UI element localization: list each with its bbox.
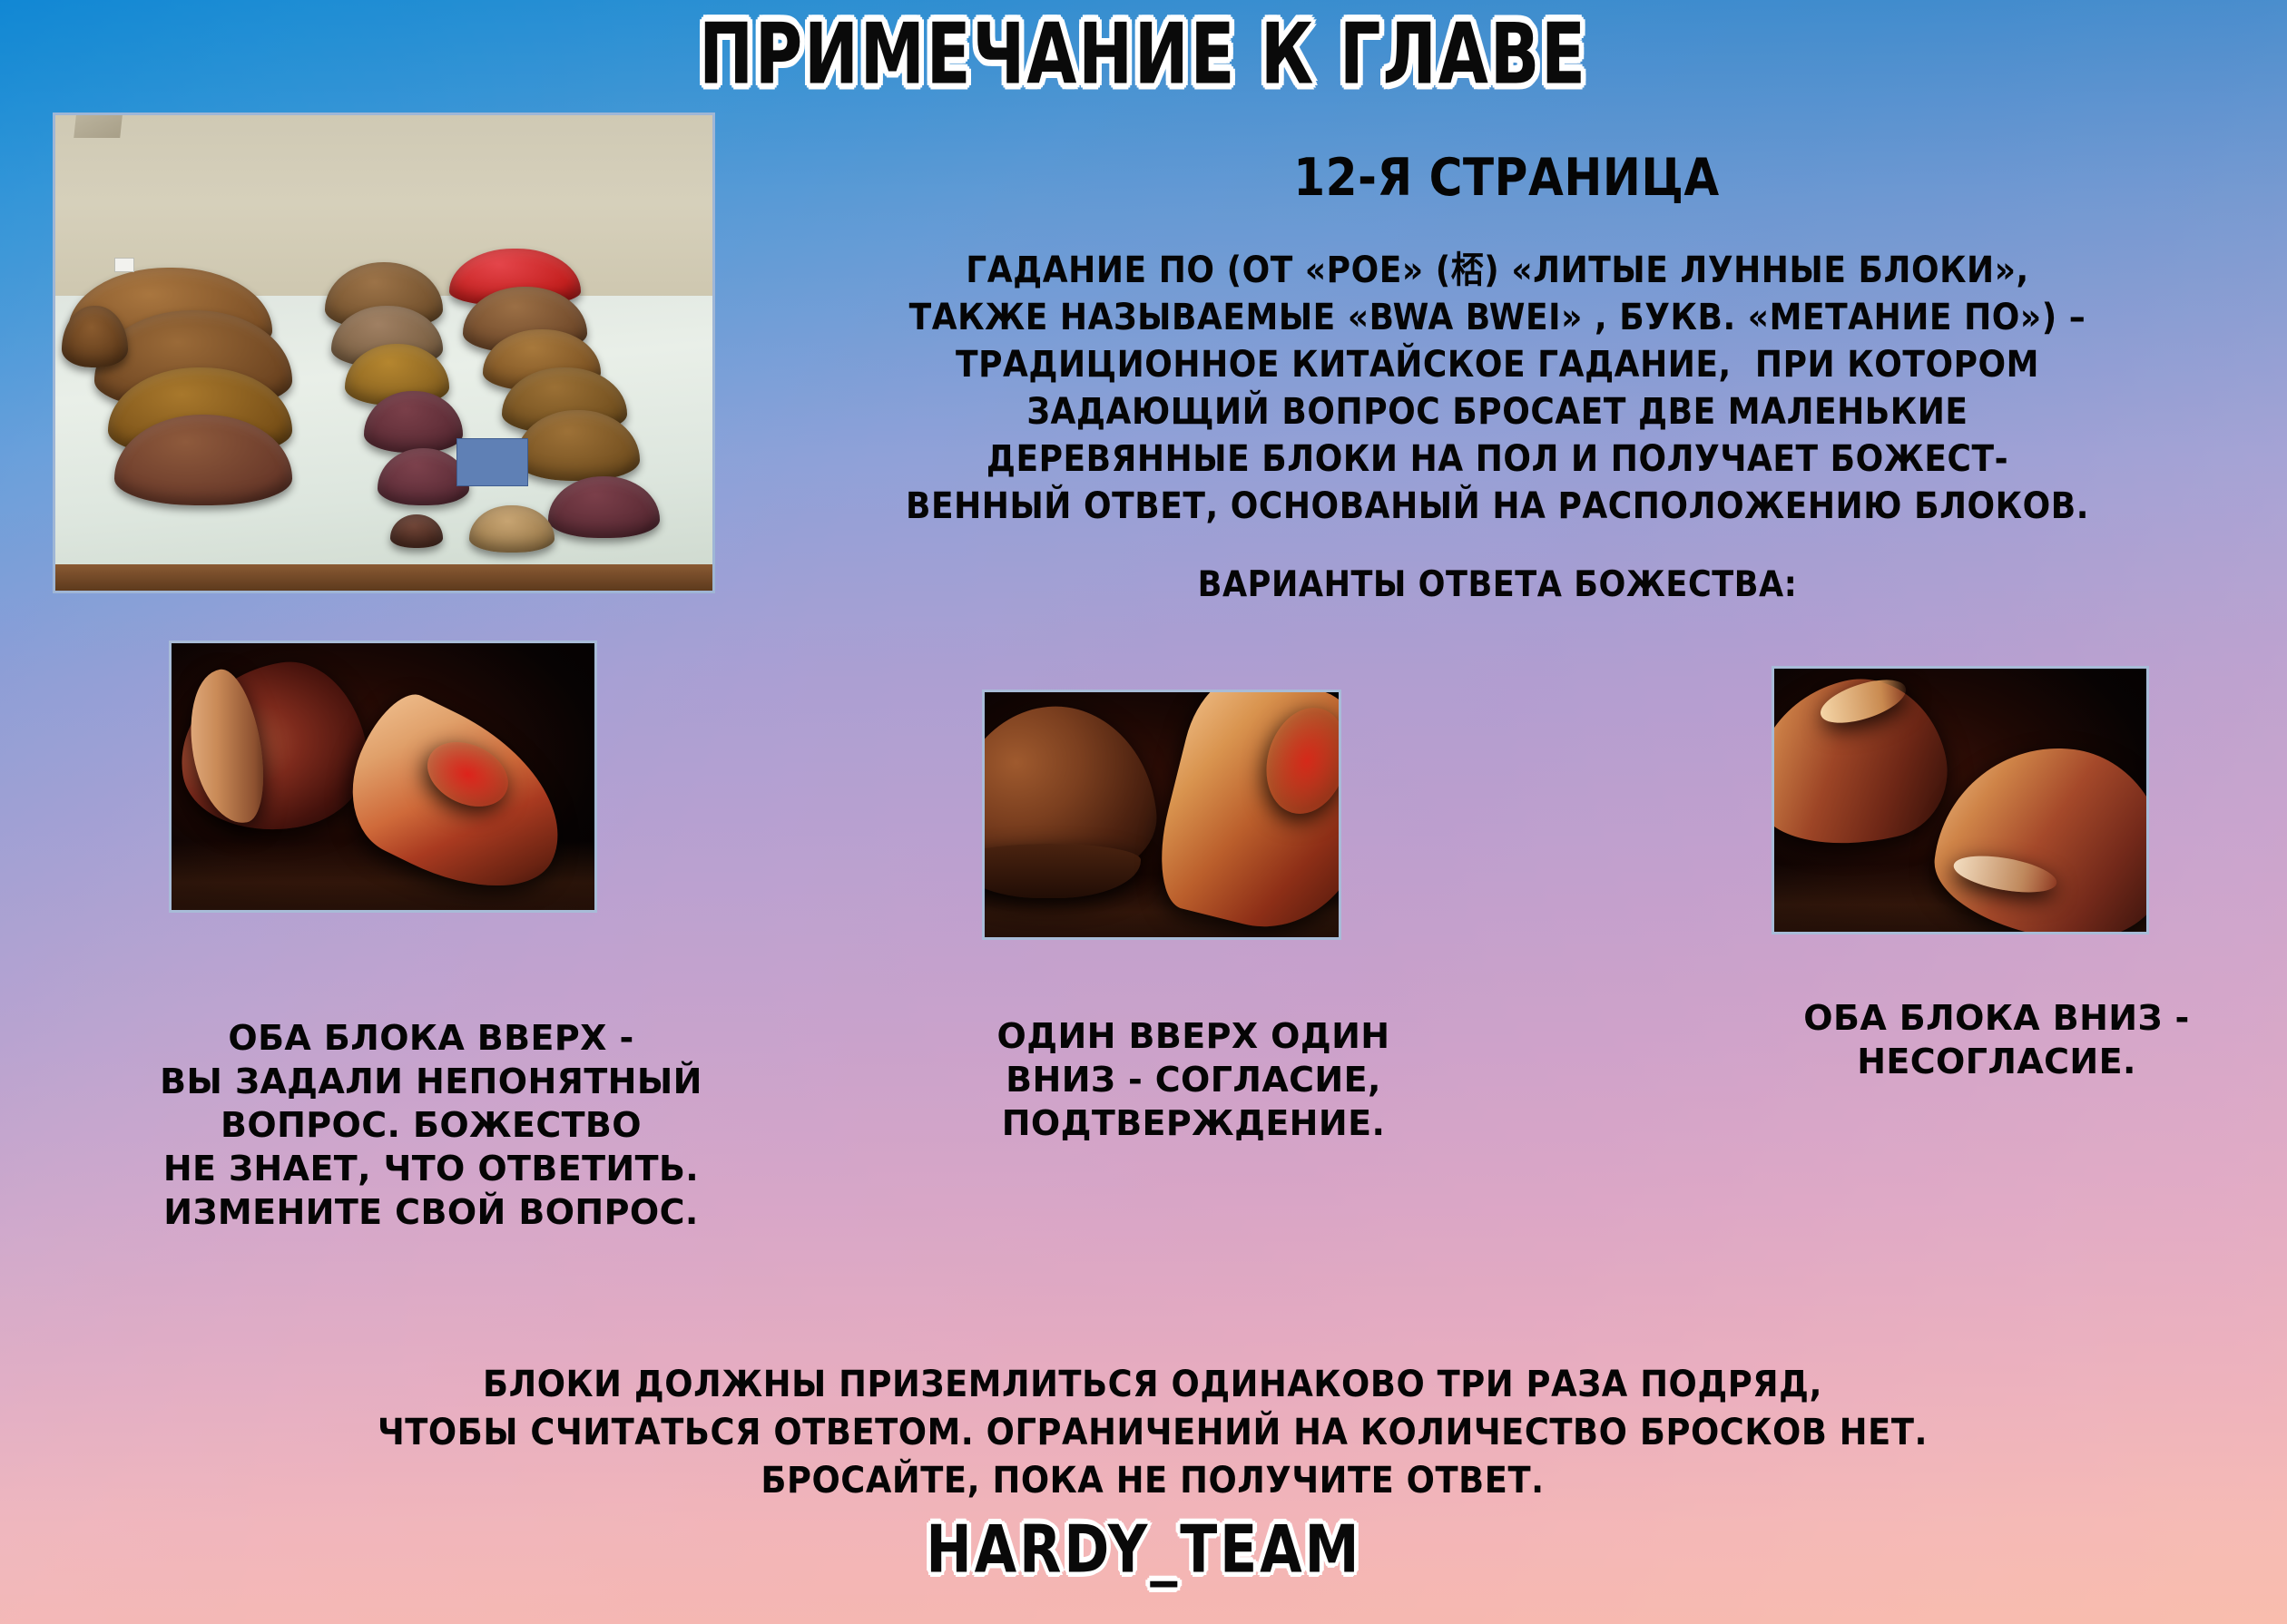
page-title: 12-Я СТРАНИЦА <box>836 152 2177 204</box>
answer-caption-both-up: ОБА БЛОКА ВВЕРХ - ВЫ ЗАДАЛИ НЕПОНЯТНЫЙ В… <box>23 1016 839 1234</box>
museum-display-photo <box>53 113 715 593</box>
answer-caption-one-up-one-down: ОДИН ВВЕРХ ОДИН ВНИЗ - СОГЛАСИЕ, ПОДТВЕР… <box>912 1014 1475 1145</box>
both-blocks-flat-side-up-photo <box>169 641 597 913</box>
banner-title-text: ПРИМЕЧАНИЕ К ГЛАВЕ <box>691 5 1595 103</box>
answer-caption-both-down: ОБА БЛОКА ВНИЗ - НЕСОГЛАСИЕ. <box>1715 996 2278 1083</box>
footer-note: БЛОКИ ДОЛЖНЫ ПРИЗЕМЛИТЬСЯ ОДИНАКОВО ТРИ … <box>242 1361 2063 1505</box>
chapter-note-banner: ПРИМЕЧАНИЕ К ГЛАВЕ <box>0 5 2287 85</box>
exhibit-number-tag <box>114 258 134 272</box>
team-signature-text: HARDY_TEAM <box>926 1517 1361 1582</box>
team-signature: HARDY_TEAM <box>0 1517 2287 1573</box>
one-up-one-down-photo <box>982 690 1341 940</box>
intro-paragraph: ГАДАНИЕ ПО (ОТ «POE» (桮) «ЛИТЫЕ ЛУННЫЕ Б… <box>803 247 2192 530</box>
answers-heading: ВАРИАНТЫ ОТВЕТА БОЖЕСТВА: <box>803 567 2192 602</box>
both-blocks-round-side-up-photo <box>1772 666 2149 934</box>
exhibit-label-card <box>456 438 529 485</box>
museum-case-rail <box>55 564 712 591</box>
